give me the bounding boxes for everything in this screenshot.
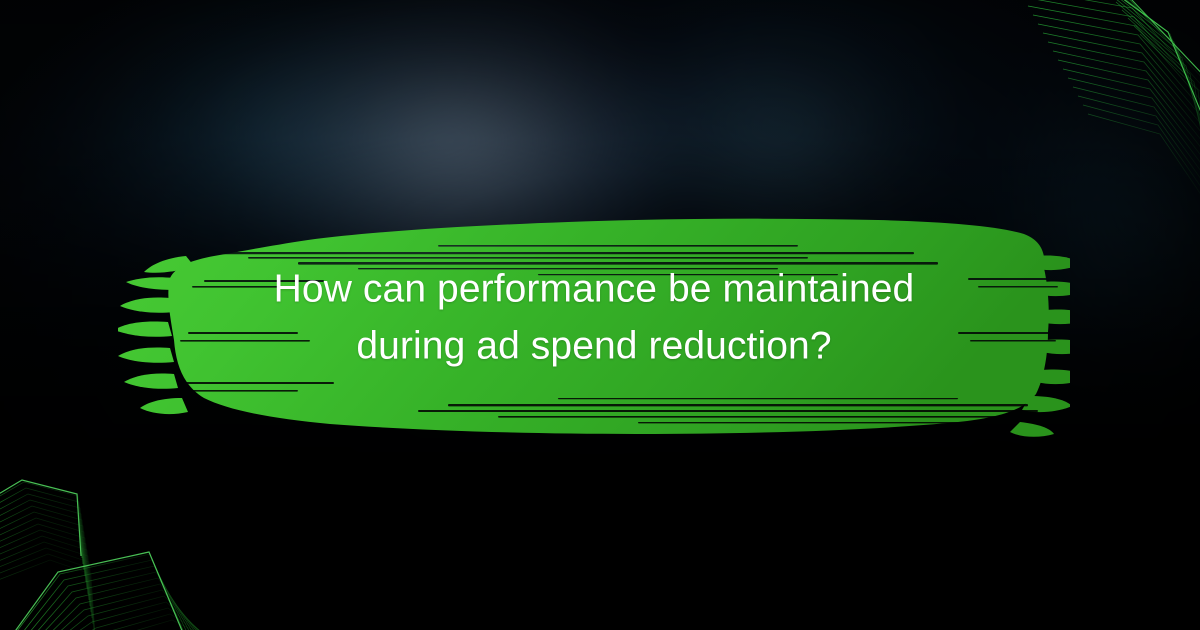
headline-text: How can performance be maintained during… xyxy=(118,261,1070,376)
poster-canvas: How can performance be maintained during… xyxy=(0,0,1200,630)
brush-stroke-banner: How can performance be maintained during… xyxy=(118,182,1070,454)
